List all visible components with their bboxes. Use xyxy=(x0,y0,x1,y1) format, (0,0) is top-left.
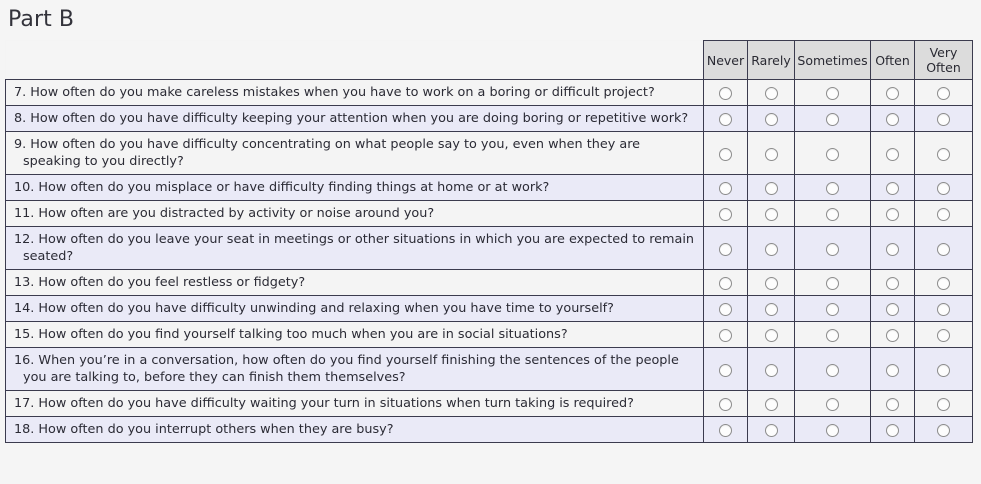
radio-never[interactable] xyxy=(719,364,732,377)
option-cell-sometimes[interactable] xyxy=(795,348,871,391)
option-cell-sometimes[interactable] xyxy=(795,270,871,296)
option-cell-sometimes[interactable] xyxy=(795,227,871,270)
radio-often[interactable] xyxy=(886,148,899,161)
radio-very_often[interactable] xyxy=(937,113,950,126)
radio-sometimes[interactable] xyxy=(826,398,839,411)
radio-very_often[interactable] xyxy=(937,398,950,411)
radio-sometimes[interactable] xyxy=(826,113,839,126)
table-row: 8. How often do you have difficulty keep… xyxy=(6,106,973,132)
table-row: 9. How often do you have difficulty conc… xyxy=(6,132,973,175)
table-row: 15. How often do you find yourself talki… xyxy=(6,322,973,348)
column-header-often: Often xyxy=(871,41,915,80)
table-row: 16. When you’re in a conversation, how o… xyxy=(6,348,973,391)
radio-often[interactable] xyxy=(886,424,899,437)
column-header-never: Never xyxy=(704,41,748,80)
column-header-rarely: Rarely xyxy=(748,41,795,80)
option-cell-never[interactable] xyxy=(704,391,748,417)
option-cell-never[interactable] xyxy=(704,270,748,296)
survey-table: Never Rarely Sometimes Often Very Often … xyxy=(5,40,973,443)
table-row: 10. How often do you misplace or have di… xyxy=(6,175,973,201)
option-cell-rarely[interactable] xyxy=(748,175,795,201)
radio-sometimes[interactable] xyxy=(826,303,839,316)
question-text: 14. How often do you have difficulty unw… xyxy=(6,296,704,322)
option-cell-rarely[interactable] xyxy=(748,417,795,443)
option-cell-never[interactable] xyxy=(704,227,748,270)
option-cell-very_often[interactable] xyxy=(915,348,973,391)
radio-often[interactable] xyxy=(886,398,899,411)
option-cell-never[interactable] xyxy=(704,80,748,106)
option-cell-often[interactable] xyxy=(871,296,915,322)
option-cell-very_often[interactable] xyxy=(915,201,973,227)
option-cell-often[interactable] xyxy=(871,80,915,106)
option-cell-very_often[interactable] xyxy=(915,132,973,175)
radio-never[interactable] xyxy=(719,398,732,411)
radio-sometimes[interactable] xyxy=(826,424,839,437)
radio-never[interactable] xyxy=(719,303,732,316)
radio-never[interactable] xyxy=(719,208,732,221)
radio-often[interactable] xyxy=(886,182,899,195)
option-cell-rarely[interactable] xyxy=(748,201,795,227)
option-cell-never[interactable] xyxy=(704,417,748,443)
option-cell-often[interactable] xyxy=(871,348,915,391)
question-text: 11. How often are you distracted by acti… xyxy=(6,201,704,227)
table-header: Never Rarely Sometimes Often Very Often xyxy=(6,41,973,80)
radio-never[interactable] xyxy=(719,424,732,437)
radio-never[interactable] xyxy=(719,182,732,195)
radio-very_often[interactable] xyxy=(937,303,950,316)
radio-never[interactable] xyxy=(719,329,732,342)
radio-often[interactable] xyxy=(886,208,899,221)
radio-very_often[interactable] xyxy=(937,364,950,377)
question-text: 15. How often do you find yourself talki… xyxy=(6,322,704,348)
radio-never[interactable] xyxy=(719,87,732,100)
option-cell-very_often[interactable] xyxy=(915,270,973,296)
option-cell-rarely[interactable] xyxy=(748,80,795,106)
option-cell-sometimes[interactable] xyxy=(795,391,871,417)
question-text: 13. How often do you feel restless or fi… xyxy=(6,270,704,296)
table-row: 7. How often do you make careless mistak… xyxy=(6,80,973,106)
radio-very_often[interactable] xyxy=(937,87,950,100)
question-text: 16. When you’re in a conversation, how o… xyxy=(6,348,704,391)
survey-page: Part B Never Rarely Sometimes Often Very… xyxy=(0,0,981,484)
option-cell-sometimes[interactable] xyxy=(795,201,871,227)
option-cell-never[interactable] xyxy=(704,348,748,391)
radio-very_often[interactable] xyxy=(937,243,950,256)
table-row: 14. How often do you have difficulty unw… xyxy=(6,296,973,322)
radio-sometimes[interactable] xyxy=(826,148,839,161)
option-cell-very_often[interactable] xyxy=(915,322,973,348)
option-cell-never[interactable] xyxy=(704,175,748,201)
option-cell-never[interactable] xyxy=(704,201,748,227)
radio-often[interactable] xyxy=(886,364,899,377)
option-cell-often[interactable] xyxy=(871,201,915,227)
radio-sometimes[interactable] xyxy=(826,277,839,290)
option-cell-rarely[interactable] xyxy=(748,296,795,322)
question-text: 12. How often do you leave your seat in … xyxy=(6,227,704,270)
radio-never[interactable] xyxy=(719,243,732,256)
option-cell-rarely[interactable] xyxy=(748,270,795,296)
radio-very_often[interactable] xyxy=(937,277,950,290)
radio-sometimes[interactable] xyxy=(826,243,839,256)
table-row: 12. How often do you leave your seat in … xyxy=(6,227,973,270)
radio-often[interactable] xyxy=(886,243,899,256)
radio-never[interactable] xyxy=(719,148,732,161)
radio-rarely[interactable] xyxy=(765,182,778,195)
option-cell-often[interactable] xyxy=(871,227,915,270)
column-header-very-often: Very Often xyxy=(915,41,973,80)
table-header-row: Never Rarely Sometimes Often Very Often xyxy=(6,41,973,80)
radio-rarely[interactable] xyxy=(765,303,778,316)
option-cell-very_often[interactable] xyxy=(915,227,973,270)
radio-sometimes[interactable] xyxy=(826,364,839,377)
table-row: 13. How often do you feel restless or fi… xyxy=(6,270,973,296)
option-cell-rarely[interactable] xyxy=(748,348,795,391)
question-text: 18. How often do you interrupt others wh… xyxy=(6,417,704,443)
option-cell-rarely[interactable] xyxy=(748,132,795,175)
option-cell-never[interactable] xyxy=(704,322,748,348)
radio-sometimes[interactable] xyxy=(826,87,839,100)
option-cell-very_often[interactable] xyxy=(915,296,973,322)
page-title: Part B xyxy=(8,6,74,34)
question-text: 7. How often do you make careless mistak… xyxy=(6,80,704,106)
option-cell-sometimes[interactable] xyxy=(795,80,871,106)
radio-very_often[interactable] xyxy=(937,148,950,161)
radio-rarely[interactable] xyxy=(765,243,778,256)
table-row: 18. How often do you interrupt others wh… xyxy=(6,417,973,443)
option-cell-rarely[interactable] xyxy=(748,391,795,417)
radio-sometimes[interactable] xyxy=(826,329,839,342)
option-cell-never[interactable] xyxy=(704,132,748,175)
table-row: 17. How often do you have difficulty wai… xyxy=(6,391,973,417)
radio-rarely[interactable] xyxy=(765,364,778,377)
table-row: 11. How often are you distracted by acti… xyxy=(6,201,973,227)
option-cell-rarely[interactable] xyxy=(748,227,795,270)
radio-often[interactable] xyxy=(886,303,899,316)
option-cell-sometimes[interactable] xyxy=(795,106,871,132)
option-cell-sometimes[interactable] xyxy=(795,296,871,322)
radio-very_often[interactable] xyxy=(937,424,950,437)
radio-rarely[interactable] xyxy=(765,398,778,411)
question-text: 17. How often do you have difficulty wai… xyxy=(6,391,704,417)
option-cell-often[interactable] xyxy=(871,106,915,132)
option-cell-sometimes[interactable] xyxy=(795,132,871,175)
option-cell-often[interactable] xyxy=(871,175,915,201)
option-cell-very_often[interactable] xyxy=(915,106,973,132)
radio-very_often[interactable] xyxy=(937,182,950,195)
radio-often[interactable] xyxy=(886,277,899,290)
radio-rarely[interactable] xyxy=(765,148,778,161)
option-cell-rarely[interactable] xyxy=(748,106,795,132)
radio-often[interactable] xyxy=(886,329,899,342)
option-cell-sometimes[interactable] xyxy=(795,322,871,348)
table-body: 7. How often do you make careless mistak… xyxy=(6,80,973,443)
question-text: 8. How often do you have difficulty keep… xyxy=(6,106,704,132)
option-cell-very_often[interactable] xyxy=(915,80,973,106)
radio-sometimes[interactable] xyxy=(826,182,839,195)
radio-never[interactable] xyxy=(719,113,732,126)
question-text: 10. How often do you misplace or have di… xyxy=(6,175,704,201)
option-cell-often[interactable] xyxy=(871,132,915,175)
radio-rarely[interactable] xyxy=(765,87,778,100)
radio-rarely[interactable] xyxy=(765,329,778,342)
radio-often[interactable] xyxy=(886,113,899,126)
option-cell-often[interactable] xyxy=(871,322,915,348)
option-cell-never[interactable] xyxy=(704,106,748,132)
radio-rarely[interactable] xyxy=(765,113,778,126)
radio-very_often[interactable] xyxy=(937,329,950,342)
option-cell-very_often[interactable] xyxy=(915,391,973,417)
option-cell-sometimes[interactable] xyxy=(795,417,871,443)
radio-sometimes[interactable] xyxy=(826,208,839,221)
question-column-header xyxy=(6,41,704,80)
option-cell-often[interactable] xyxy=(871,417,915,443)
column-header-sometimes: Sometimes xyxy=(795,41,871,80)
option-cell-sometimes[interactable] xyxy=(795,175,871,201)
radio-very_often[interactable] xyxy=(937,208,950,221)
radio-rarely[interactable] xyxy=(765,208,778,221)
radio-rarely[interactable] xyxy=(765,424,778,437)
radio-never[interactable] xyxy=(719,277,732,290)
option-cell-very_often[interactable] xyxy=(915,417,973,443)
radio-rarely[interactable] xyxy=(765,277,778,290)
radio-often[interactable] xyxy=(886,87,899,100)
option-cell-often[interactable] xyxy=(871,270,915,296)
option-cell-very_often[interactable] xyxy=(915,175,973,201)
option-cell-rarely[interactable] xyxy=(748,322,795,348)
option-cell-often[interactable] xyxy=(871,391,915,417)
option-cell-never[interactable] xyxy=(704,296,748,322)
question-text: 9. How often do you have difficulty conc… xyxy=(6,132,704,175)
